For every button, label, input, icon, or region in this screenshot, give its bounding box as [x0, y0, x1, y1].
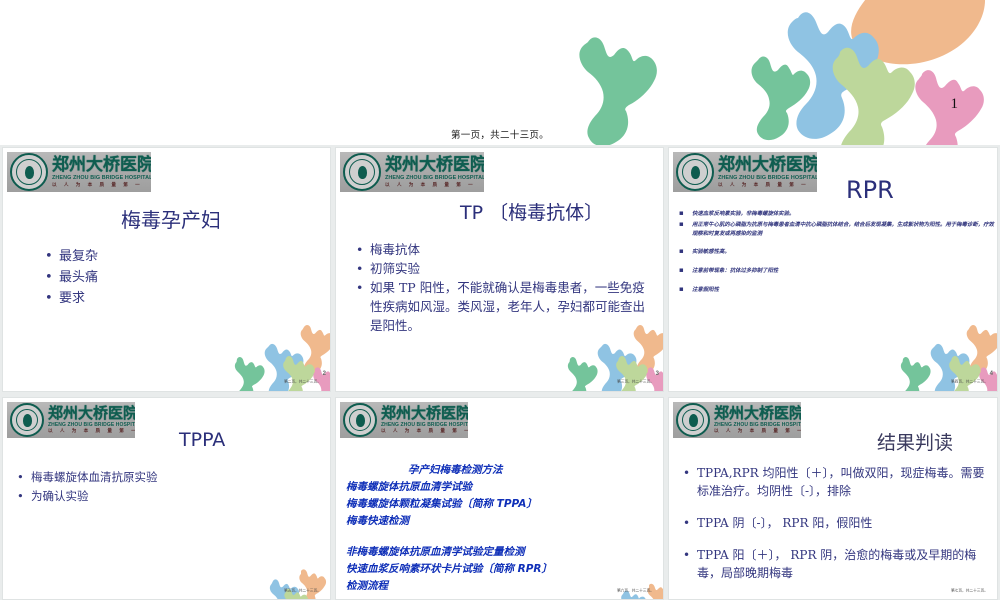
hospital-logo: 郑州大桥医院 ZHENG ZHOU BIG BRIDGE HOSPITAL 以 … — [7, 402, 135, 438]
block-line: 非梅毒螺旋体抗原血清学试验定量检测 — [346, 544, 664, 561]
slide-footnote: 第三页，共二十三页。 — [617, 379, 654, 385]
hospital-emblem-icon — [343, 403, 377, 437]
logo-name-cn: 郑州大桥医院 — [381, 406, 468, 421]
slide-thumbnail-1[interactable]: 郑州大桥医院 ZHENG ZHOU BIG BRIDGE HOSPITAL 以 … — [2, 147, 331, 392]
leaf-blue-icon — [788, 12, 879, 139]
slide-title: RPR — [846, 176, 894, 204]
list-item: 初筛实验 — [356, 259, 656, 278]
logo-name-cn: 郑州大桥医院 — [714, 406, 801, 421]
slide-page-number: 2 — [323, 371, 326, 377]
block-line: 梅毒螺旋体颗粒凝集试验〔简称 TPPA〕 — [346, 496, 664, 513]
slide-decorative-leaves — [253, 570, 331, 600]
hospital-logo: 郑州大桥医院 ZHENG ZHOU BIG BRIDGE HOSPITAL 以 … — [340, 402, 468, 438]
block-line: 孕产妇梅毒检测方法 — [408, 462, 664, 479]
banner-footer-note: 第一页，共二十三页。 — [0, 127, 1000, 141]
slide-thumbnail-6[interactable]: 郑州大桥医院 ZHENG ZHOU BIG BRIDGE HOSPITAL 以 … — [668, 397, 998, 600]
slide-thumbnail-3[interactable]: 郑州大桥医院 ZHENG ZHOU BIG BRIDGE HOSPITAL 以 … — [668, 147, 998, 392]
list-item: 快速血浆反响素实验，非梅毒螺旋体实验。 — [679, 210, 995, 219]
logo-slogan: 以 人 为 本 质 量 第 一 — [718, 183, 817, 188]
slide-bullet-list: 梅毒螺旋体血清抗原实验 为确认实验 — [17, 468, 158, 506]
logo-name-cn: 郑州大桥医院 — [52, 157, 151, 174]
hospital-emblem-icon — [10, 403, 44, 437]
hospital-emblem-icon — [10, 153, 48, 191]
logo-name-cn: 郑州大桥医院 — [385, 157, 484, 174]
block-line: 快速血浆反响素环状卡片试验〔简称 RPR〕 — [346, 561, 664, 578]
logo-slogan: 以 人 为 本 质 量 第 一 — [381, 429, 468, 434]
slide-title: TP 〔梅毒抗体〕 — [460, 198, 603, 225]
list-item: 注意前带现象：抗体过多抑制了阳性 — [679, 267, 995, 276]
logo-slogan: 以 人 为 本 质 量 第 一 — [48, 429, 135, 434]
hospital-emblem-icon — [343, 153, 381, 191]
slide-thumbnail-5[interactable]: 郑州大桥医院 ZHENG ZHOU BIG BRIDGE HOSPITAL 以 … — [335, 397, 664, 600]
slide-thumbnail-grid: 郑州大桥医院 ZHENG ZHOU BIG BRIDGE HOSPITAL 以 … — [0, 145, 1000, 600]
list-item: 为确认实验 — [17, 487, 158, 506]
leaf-peach-icon — [851, 0, 985, 64]
slide-thumbnail-4[interactable]: 郑州大桥医院 ZHENG ZHOU BIG BRIDGE HOSPITAL 以 … — [2, 397, 331, 600]
logo-name-en: ZHENG ZHOU BIG BRIDGE HOSPITAL — [718, 176, 817, 181]
logo-name-en: ZHENG ZHOU BIG BRIDGE HOSPITAL — [385, 176, 484, 181]
slide-page-number: 4 — [990, 371, 993, 377]
hospital-emblem-icon — [676, 153, 714, 191]
list-item: 注意假阳性 — [679, 286, 995, 295]
list-item: TPPA 阴〔-〕， RPR 阳，假阳性 — [683, 514, 993, 532]
block-line: 梅毒螺旋体抗原血清学试验 — [346, 479, 664, 496]
slide-title: TPPA — [179, 429, 225, 451]
slide-thumbnail-2[interactable]: 郑州大桥医院 ZHENG ZHOU BIG BRIDGE HOSPITAL 以 … — [335, 147, 664, 392]
logo-name-cn: 郑州大桥医院 — [718, 157, 817, 174]
logo-name-en: ZHENG ZHOU BIG BRIDGE HOSPITAL — [52, 176, 151, 181]
slide-block-text: 孕产妇梅毒检测方法 梅毒螺旋体抗原血清学试验 梅毒螺旋体颗粒凝集试验〔简称 TP… — [346, 462, 664, 595]
list-item: 用正常牛心肌的心磷脂为抗原与梅毒患者血清中抗心磷脂抗体结合，结合后发现凝集，生成… — [679, 221, 995, 239]
block-line: 梅毒快速检测 — [346, 513, 664, 530]
list-item: 梅毒螺旋体血清抗原实验 — [17, 468, 158, 487]
list-item: 最复杂 — [45, 246, 98, 267]
slide-page-number: 3 — [656, 371, 659, 377]
slide-footnote: 第五页，共二十三页。 — [284, 588, 321, 594]
list-item: 如果 TP 阳性，不能就确认是梅毒患者，一些免疫性疾病如风湿。类风湿，老年人，孕… — [356, 278, 656, 335]
list-item: 最头痛 — [45, 267, 98, 288]
list-item: 要求 — [45, 288, 98, 309]
logo-slogan: 以 人 为 本 质 量 第 一 — [385, 183, 484, 188]
slide-footnote: 第四页，共二十三页。 — [951, 379, 988, 385]
top-banner: 1 第一页，共二十三页。 — [0, 0, 1000, 145]
slide-footnote: 第六页，共二十三页。 — [617, 588, 654, 594]
list-item: TPPA 阳〔＋〕， RPR 阴，治愈的梅毒或及早期的梅毒，局部晚期梅毒 — [683, 546, 993, 582]
hospital-logo: 郑州大桥医院 ZHENG ZHOU BIG BRIDGE HOSPITAL 以 … — [673, 152, 817, 192]
list-item: 实验敏感性高。 — [679, 248, 995, 257]
slide-bullet-list: 梅毒抗体 初筛实验 如果 TP 阳性，不能就确认是梅毒患者，一些免疫性疾病如风湿… — [356, 240, 656, 335]
hospital-logo: 郑州大桥医院 ZHENG ZHOU BIG BRIDGE HOSPITAL 以 … — [340, 152, 484, 192]
slide-footnote: 第七页，共二十三页。 — [951, 588, 988, 594]
list-item: TPPA,RPR 均阳性〔＋〕，叫做双阳，现症梅毒。需要标准治疗。均阴性〔-〕，… — [683, 464, 993, 500]
logo-name-cn: 郑州大桥医院 — [48, 406, 135, 421]
slide-title: 梅毒孕产妇 — [121, 204, 221, 233]
slide-title: 结果判读 — [877, 428, 953, 455]
slide-bullet-list: 快速血浆反响素实验，非梅毒螺旋体实验。 用正常牛心肌的心磷脂为抗原与梅毒患者血清… — [679, 210, 995, 295]
slide-bullet-list: TPPA,RPR 均阳性〔＋〕，叫做双阳，现症梅毒。需要标准治疗。均阴性〔-〕，… — [683, 464, 993, 582]
slide-bullet-list: 最复杂 最头痛 要求 — [45, 246, 98, 309]
logo-slogan: 以 人 为 本 质 量 第 一 — [714, 429, 801, 434]
hospital-logo: 郑州大桥医院 ZHENG ZHOU BIG BRIDGE HOSPITAL 以 … — [673, 402, 801, 438]
hospital-logo: 郑州大桥医院 ZHENG ZHOU BIG BRIDGE HOSPITAL 以 … — [7, 152, 151, 192]
slide-footnote: 第二页，共二十三页。 — [284, 379, 321, 385]
logo-slogan: 以 人 为 本 质 量 第 一 — [52, 183, 151, 188]
list-item: 梅毒抗体 — [356, 240, 656, 259]
banner-page-number: 1 — [951, 96, 959, 113]
hospital-emblem-icon — [676, 403, 710, 437]
